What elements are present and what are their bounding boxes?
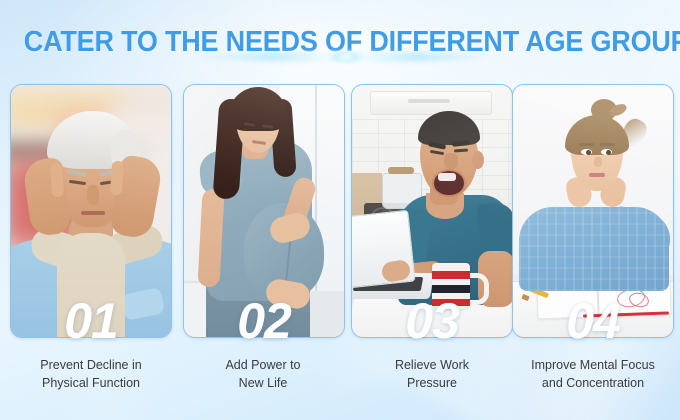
card-photo-pregnant-woman xyxy=(184,85,344,337)
promo-banner: CATER TO THE NEEDS OF DIFFERENT AGE GROU… xyxy=(0,0,680,420)
card-item-03[interactable] xyxy=(351,84,513,338)
card-photo-bored-girl xyxy=(513,85,673,337)
card-grid: 01 02 03 04 Prevent Decline in Physical … xyxy=(0,84,680,420)
title-glow-core-icon xyxy=(328,50,364,64)
card-caption-01: Prevent Decline in Physical Function xyxy=(1,356,181,392)
card-caption-04: Improve Mental Focus and Concentration xyxy=(503,356,680,392)
card-item-04[interactable] xyxy=(512,84,674,338)
card-photo-elderly-man xyxy=(11,85,171,337)
card-photo-yawning-man xyxy=(352,85,512,337)
card-item-02[interactable] xyxy=(183,84,345,338)
card-caption-02: Add Power to New Life xyxy=(173,356,353,392)
card-item-01[interactable] xyxy=(10,84,172,338)
card-caption-03: Relieve Work Pressure xyxy=(342,356,522,392)
